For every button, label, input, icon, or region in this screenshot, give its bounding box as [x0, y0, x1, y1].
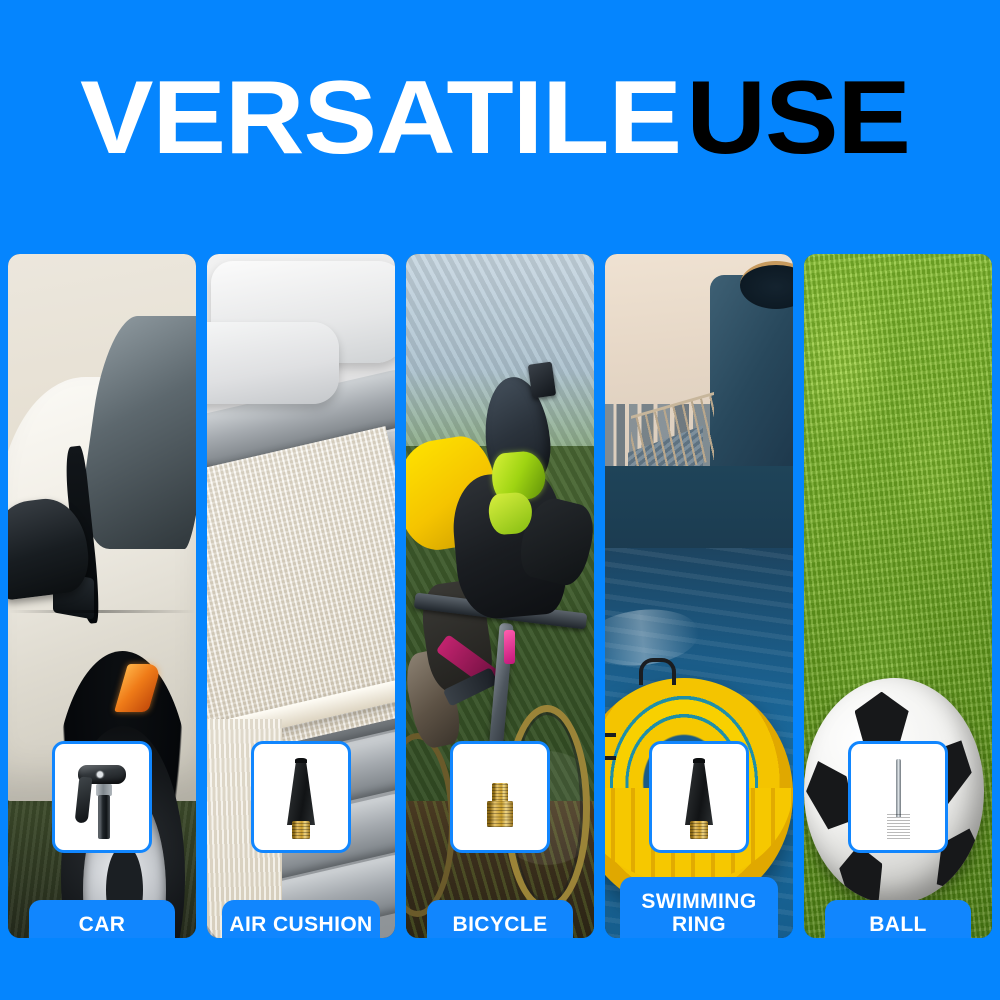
panel-bicycle[interactable]: BICYCLE: [406, 254, 594, 938]
panel-air-cushion[interactable]: AIR CUSHION: [207, 254, 395, 938]
panel-label-text: CAR: [35, 913, 169, 937]
use-case-panel-strip: CAR AIR CUSHION: [8, 254, 992, 938]
panel-label-text: AIR CUSHION: [228, 913, 374, 937]
panel-label-text: BALL: [831, 913, 965, 937]
panel-car[interactable]: CAR: [8, 254, 196, 938]
panel-label-car[interactable]: CAR: [29, 900, 175, 938]
title-accent-word: USE: [657, 66, 910, 170]
tapered-cone-nozzle-icon: [671, 751, 727, 843]
nozzle-inset-ball: [848, 741, 948, 853]
presta-brass-adapter-icon: [472, 751, 528, 843]
nozzle-inset-swimming-ring: [649, 741, 749, 853]
panel-label-air-cushion[interactable]: AIR CUSHION: [222, 900, 380, 938]
panel-swimming-ring[interactable]: SWIMMING RING: [605, 254, 793, 938]
tapered-cone-nozzle-icon: [273, 751, 329, 843]
panel-label-bicycle[interactable]: BICYCLE: [427, 900, 573, 938]
page-title: VERSATILE USE: [0, 58, 1000, 178]
tire-chuck-nozzle-icon: [74, 751, 130, 843]
panel-label-swimming-ring[interactable]: SWIMMING RING: [620, 877, 778, 938]
nozzle-inset-air-cushion: [251, 741, 351, 853]
panel-label-text: BICYCLE: [433, 913, 567, 937]
ball-inflation-needle-icon: [870, 751, 926, 843]
nozzle-inset-bicycle: [450, 741, 550, 853]
panel-label-text: SWIMMING RING: [626, 890, 772, 937]
title-main-word: VERSATILE: [80, 66, 681, 170]
panel-ball[interactable]: adidas BALL: [804, 254, 992, 938]
nozzle-inset-car: [52, 741, 152, 853]
panel-label-ball[interactable]: BALL: [825, 900, 971, 938]
